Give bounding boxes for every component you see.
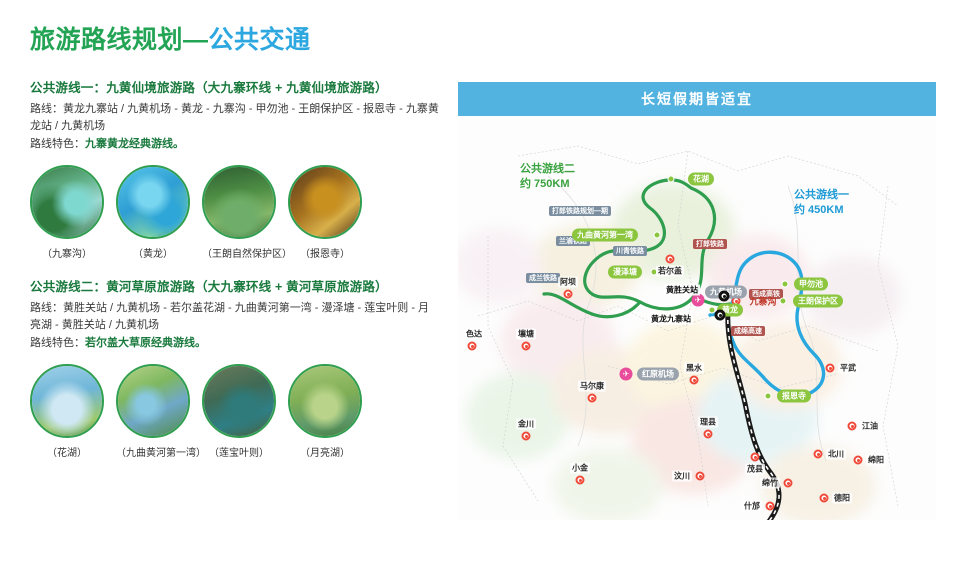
city-dot [468, 342, 477, 351]
city-label-maoxian[interactable]: 茂县 [745, 464, 765, 475]
airport-label-hongyuan[interactable]: 红原机场 [637, 368, 679, 381]
route-2-thumbnails: （花湖） （九曲黄河第一湾） （莲宝叶则） （月亮湖） [30, 364, 440, 459]
route-1-feature: 路线特色：九寨黄龙经典游线。 [30, 136, 440, 153]
route-tag-blue-line2: 约 450KM [794, 203, 849, 218]
city-label-jinchuan[interactable]: 金川 [516, 419, 536, 430]
map-banner: 长短假期皆适宜 [458, 82, 936, 116]
city-dot [522, 432, 531, 441]
thumbnail-image [116, 165, 190, 239]
station-dot-huangshengguan [719, 291, 730, 302]
city-dot [576, 476, 585, 485]
city-dot [696, 472, 705, 481]
city-label-lixian[interactable]: 理县 [698, 417, 718, 428]
rail-label-danglang-phase1: 打郎铁路规划—期 [549, 206, 611, 216]
rail-label-danglang: 打郎铁路 [693, 239, 727, 249]
city-label-wenchuan[interactable]: 汶川 [672, 471, 692, 482]
route-block-2: 公共游线二：黄河草原旅游路（大九寨环线 + 黄河草原旅游路） 路线：黄胜关站 /… [30, 276, 440, 459]
route-1-line-text: 黄龙九寨站 / 九黄机场 - 黄龙 - 九寨沟 - 甲勿池 - 王朗保护区 - … [30, 103, 439, 132]
thumbnail-image [288, 165, 362, 239]
station-label-huangshengguan[interactable]: 黄胜关站 [664, 285, 700, 296]
map-canvas[interactable]: 公共游线二 约 750KM 公共游线一 约 450KM 打郎铁路规划—期 打郎铁… [458, 116, 936, 520]
scenic-dot-jiuqu [654, 232, 661, 239]
route-2-heading: 公共游线二：黄河草原旅游路（大九寨环线 + 黄河草原旅游路） [30, 276, 440, 295]
city-dot [564, 290, 573, 299]
rail-label-chuanqing: 川青铁路 [613, 246, 647, 256]
thumbnail-image [202, 364, 276, 438]
city-dot [690, 376, 699, 385]
city-dot [766, 502, 775, 511]
map-panel: 长短假期皆适宜 [458, 82, 936, 520]
city-dot [704, 430, 713, 439]
scenic-dot-jiawuchi [782, 281, 789, 288]
route-1-thumbnails: （九寨沟） （黄龙） （王朗自然保护区） （报恩寺） [30, 165, 440, 260]
thumbnail-caption: （莲宝叶则） [202, 444, 276, 459]
city-label-xiaojin[interactable]: 小金 [570, 463, 590, 474]
city-dot [820, 494, 829, 503]
title-part-green: 旅游路线规划— [30, 26, 209, 54]
city-dot [848, 422, 857, 431]
thumbnail-item[interactable]: （九曲黄河第一湾） [116, 364, 190, 459]
thumbnail-item[interactable]: （王朗自然保护区） [202, 165, 276, 260]
route-tag-blue-line1: 公共游线一 [794, 188, 849, 203]
scenic-label-baoensi[interactable]: 报恩寺 [777, 390, 811, 403]
route-2-feature-label: 路线特色： [30, 337, 85, 349]
thumbnail-caption: （花湖） [30, 444, 104, 459]
city-label-seda[interactable]: 色达 [464, 329, 484, 340]
station-label-huanglongjiuzhai[interactable]: 黄龙九寨站 [649, 314, 693, 325]
scenic-dot-baoensi [765, 393, 772, 400]
scenic-label-huahu[interactable]: 花湖 [688, 173, 714, 186]
rail-label-chengmian: 成绵高速 [731, 326, 765, 336]
thumbnail-item[interactable]: （九寨沟） [30, 165, 104, 260]
route-1-line-label: 路线： [30, 103, 63, 115]
title-part-blue: 公共交通 [209, 26, 311, 54]
city-dot [814, 450, 823, 459]
thumbnail-item[interactable]: （报恩寺） [288, 165, 362, 260]
thumbnail-image [30, 165, 104, 239]
thumbnail-caption: （王朗自然保护区） [202, 245, 276, 260]
scenic-dot-wanglang [780, 298, 787, 305]
thumbnail-item[interactable]: （莲宝叶则） [202, 364, 276, 459]
scenic-label-wanglang[interactable]: 王朗保护区 [793, 295, 843, 308]
scenic-label-jiuqu[interactable]: 九曲黄河第一湾 [572, 229, 638, 242]
city-label-mianyang[interactable]: 绵阳 [866, 455, 886, 466]
city-dot [666, 255, 675, 264]
route-2-feature: 路线特色：若尔盖大草原经典游线。 [30, 335, 440, 352]
city-label-heishui[interactable]: 黑水 [684, 363, 704, 374]
scenic-dot-huahu [668, 176, 675, 183]
route-tag-green-line2: 约 750KM [520, 177, 575, 192]
scenic-label-jiuzhaigou[interactable]: 九寨沟 [744, 294, 781, 309]
thumbnail-image [30, 364, 104, 438]
scenic-label-jiawuchi[interactable]: 甲勿池 [794, 278, 828, 291]
city-label-maerkang[interactable]: 马尔康 [578, 381, 606, 392]
city-label-ruoergai[interactable]: 若尔盖 [656, 266, 684, 277]
thumbnail-caption: （九寨沟） [30, 245, 104, 260]
thumbnail-image [288, 364, 362, 438]
city-label-rangtang[interactable]: 壤塘 [516, 329, 536, 340]
city-dot [588, 394, 597, 403]
route-2-line-text: 黄胜关站 / 九黄机场 - 若尔盖花湖 - 九曲黄河第一湾 - 漫泽塘 - 莲宝… [30, 302, 429, 331]
route-1-line: 路线：黄龙九寨站 / 九黄机场 - 黄龙 - 九寨沟 - 甲勿池 - 王朗保护区… [30, 101, 440, 135]
city-dot [784, 479, 793, 488]
city-label-mianzhu[interactable]: 绵竹 [760, 478, 780, 489]
left-column: 旅游路线规划—公共交通 公共游线一：九黄仙境旅游路（大九寨环线 + 九黄仙境旅游… [30, 26, 440, 475]
thumbnail-caption: （报恩寺） [288, 245, 362, 260]
rail-label-chenglan: 成兰铁路 [526, 273, 560, 283]
thumbnail-item[interactable]: （月亮湖） [288, 364, 362, 459]
city-label-beichuan[interactable]: 北川 [826, 449, 846, 460]
thumbnail-caption: （黄龙） [116, 245, 190, 260]
slide-root: 旅游路线规划—公共交通 公共游线一：九黄仙境旅游路（大九寨环线 + 九黄仙境旅游… [0, 0, 960, 570]
airplane-icon: ✈ [620, 368, 633, 381]
route-block-1: 公共游线一：九黄仙境旅游路（大九寨环线 + 九黄仙境旅游路） 路线：黄龙九寨站 … [30, 77, 440, 260]
route-1-feature-label: 路线特色： [30, 138, 85, 150]
route-2-line: 路线：黄胜关站 / 九黄机场 - 若尔盖花湖 - 九曲黄河第一湾 - 漫泽塘 -… [30, 300, 440, 334]
route-2-line-label: 路线： [30, 302, 63, 314]
route-1-feature-text: 九寨黄龙经典游线。 [85, 138, 184, 150]
station-dot-huanglongjiuzhai [715, 310, 726, 321]
thumbnail-caption: （月亮湖） [288, 444, 362, 459]
city-dot [751, 453, 760, 462]
city-dot [826, 364, 835, 373]
city-dot [522, 342, 531, 351]
route-tag-green: 公共游线二 约 750KM [520, 162, 575, 192]
route-tag-green-line1: 公共游线二 [520, 162, 575, 177]
city-label-pingwu[interactable]: 平武 [838, 363, 858, 374]
thumbnail-item[interactable]: （花湖） [30, 364, 104, 459]
thumbnail-image [116, 364, 190, 438]
thumbnail-image [202, 165, 276, 239]
city-label-deyang[interactable]: 德阳 [832, 493, 852, 504]
city-label-shifang[interactable]: 什邡 [742, 501, 762, 512]
city-label-jiangyou[interactable]: 江油 [860, 421, 880, 432]
thumbnail-item[interactable]: （黄龙） [116, 165, 190, 260]
page-title: 旅游路线规划—公共交通 [30, 26, 440, 55]
thumbnail-caption: （九曲黄河第一湾） [116, 444, 190, 459]
city-dot [854, 456, 863, 465]
route-1-heading: 公共游线一：九黄仙境旅游路（大九寨环线 + 九黄仙境旅游路） [30, 77, 440, 96]
city-label-aba[interactable]: 阿坝 [558, 277, 578, 288]
route-2-feature-text: 若尔盖大草原经典游线。 [85, 337, 206, 349]
route-tag-blue: 公共游线一 约 450KM [794, 188, 849, 218]
scenic-label-manzetang[interactable]: 漫泽塘 [608, 266, 642, 279]
